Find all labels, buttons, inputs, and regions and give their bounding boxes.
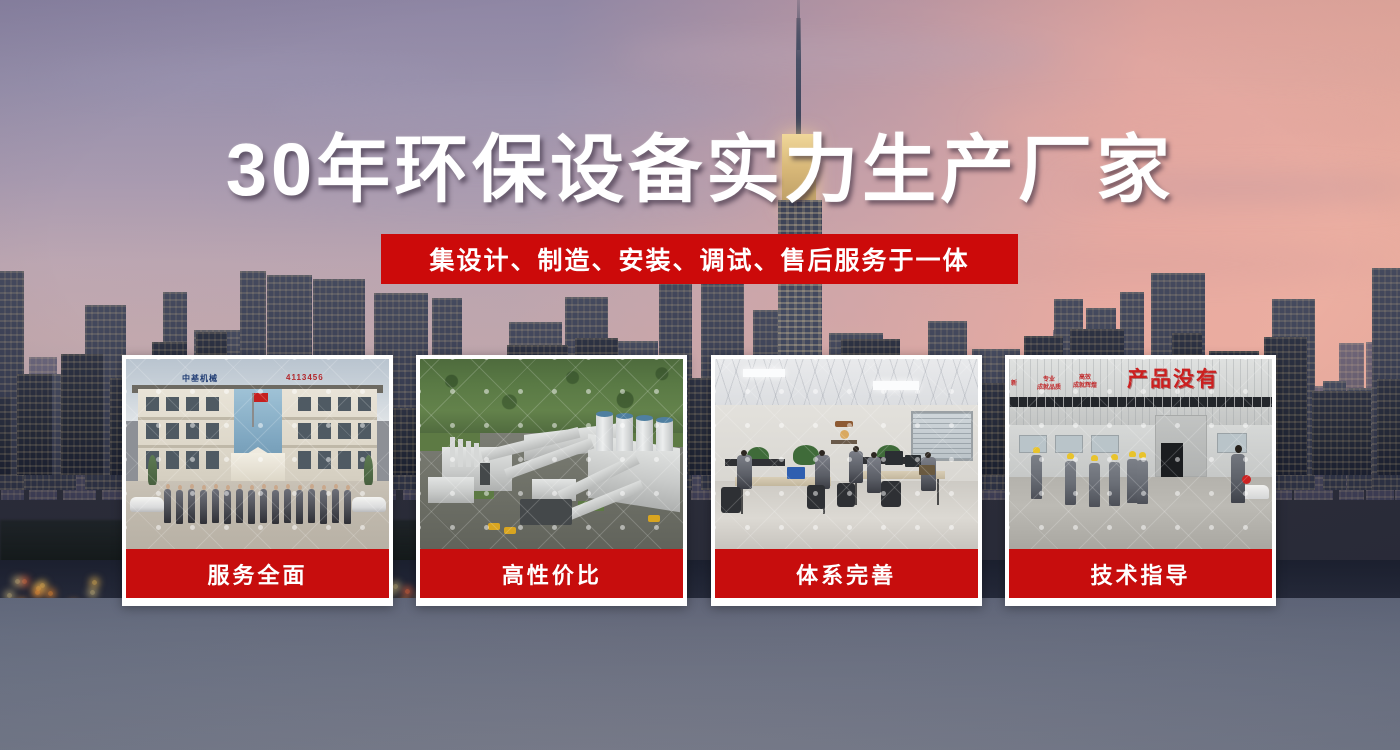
office-chair: [807, 485, 825, 509]
office-ceiling: [715, 359, 978, 405]
factory-slogan-2: 高效: [1073, 375, 1097, 383]
staff-member: [320, 490, 327, 524]
office-staff: [867, 457, 881, 493]
yellow-truck: [488, 523, 500, 530]
national-flag: [254, 393, 268, 402]
partition: [725, 459, 785, 466]
staff-member: [344, 490, 351, 524]
factory-workers-training-photo: 产品没有 新 专业 成就品质 高效 成就辉煌: [1009, 359, 1272, 549]
factory-wall-headline: 产品没有: [1127, 363, 1219, 393]
office-chair: [881, 481, 901, 507]
card-caption-value: 高性价比: [420, 549, 683, 598]
staff-member: [224, 490, 231, 524]
factory-worker: [1031, 447, 1042, 499]
factory-worker: [1137, 452, 1148, 504]
staff-member: [248, 490, 255, 524]
factory-slogan-1: 专业: [1037, 377, 1061, 385]
factory-door-opening: [1161, 443, 1183, 477]
factory-worker: [1109, 454, 1120, 506]
entrance-portico: [231, 453, 285, 481]
office-interior-staff-photo: [715, 359, 978, 549]
dark-shed: [520, 499, 572, 525]
company-building-staff-photo: 中基机械 4113456: [126, 359, 389, 549]
staff-member: [272, 490, 279, 524]
hero-content: 30年环保设备实力生产厂家 集设计、制造、安装、调试、售后服务于一体: [0, 0, 1400, 750]
staff-member: [332, 489, 339, 523]
staff-member: [236, 489, 243, 523]
factory-worker: [1065, 453, 1076, 505]
factory-worker: [1089, 455, 1100, 507]
feature-card-system[interactable]: 体系完善: [711, 355, 982, 606]
card-caption-service: 服务全面: [126, 549, 389, 598]
factory-slogan-1b: 成就品质: [1037, 385, 1061, 393]
staff-member: [188, 489, 195, 523]
watermark-dot: [126, 457, 127, 462]
monitor: [885, 451, 903, 465]
subtitle-text: 集设计、制造、安装、调试、售后服务于一体: [429, 241, 969, 277]
subtitle-banner: 集设计、制造、安装、调试、售后服务于一体: [381, 234, 1018, 284]
yellow-truck: [648, 515, 660, 522]
staff-member: [200, 490, 207, 524]
card-caption-system: 体系完善: [715, 549, 978, 598]
wall-window-band: [1009, 397, 1272, 407]
staff-member: [296, 490, 303, 524]
feature-card-service[interactable]: 中基机械 4113456 服务全面: [122, 355, 393, 606]
parked-car: [352, 497, 386, 512]
feature-card-list: 中基机械 4113456 服务全面: [122, 355, 1276, 606]
laptop: [787, 467, 805, 479]
office-chair: [837, 483, 855, 507]
building-phone-text: 4113456: [286, 373, 324, 382]
factory-slogan-0: 新: [1011, 381, 1017, 387]
plant-building: [428, 477, 474, 503]
ceiling-light: [873, 381, 919, 390]
staff-member: [260, 489, 267, 523]
office-window: [911, 411, 973, 461]
staff-member: [284, 489, 291, 523]
staff-member: [164, 489, 171, 523]
instructor: [1231, 445, 1245, 503]
parked-car: [130, 497, 164, 512]
staff-member: [308, 489, 315, 523]
page-title: 30年环保设备实力生产厂家: [0, 133, 1400, 207]
office-staff: [849, 451, 863, 483]
card-caption-training: 技术指导: [1009, 549, 1272, 598]
staff-member: [212, 489, 219, 523]
feature-card-training[interactable]: 产品没有 新 专业 成就品质 高效 成就辉煌: [1005, 355, 1276, 606]
feature-card-value[interactable]: 高性价比: [416, 355, 687, 606]
watermark-dot: [126, 423, 127, 428]
office-staff: [815, 455, 830, 489]
aerial-industrial-plant-photo: [420, 359, 683, 549]
staff-member: [176, 490, 183, 524]
building-sign-text: 中基机械: [182, 373, 218, 384]
factory-slogan-2b: 成就辉煌: [1073, 383, 1097, 391]
laptop: [919, 465, 935, 475]
yellow-truck: [504, 527, 516, 534]
office-chair: [721, 487, 741, 513]
office-staff: [737, 455, 752, 489]
ceiling-light: [743, 369, 785, 377]
